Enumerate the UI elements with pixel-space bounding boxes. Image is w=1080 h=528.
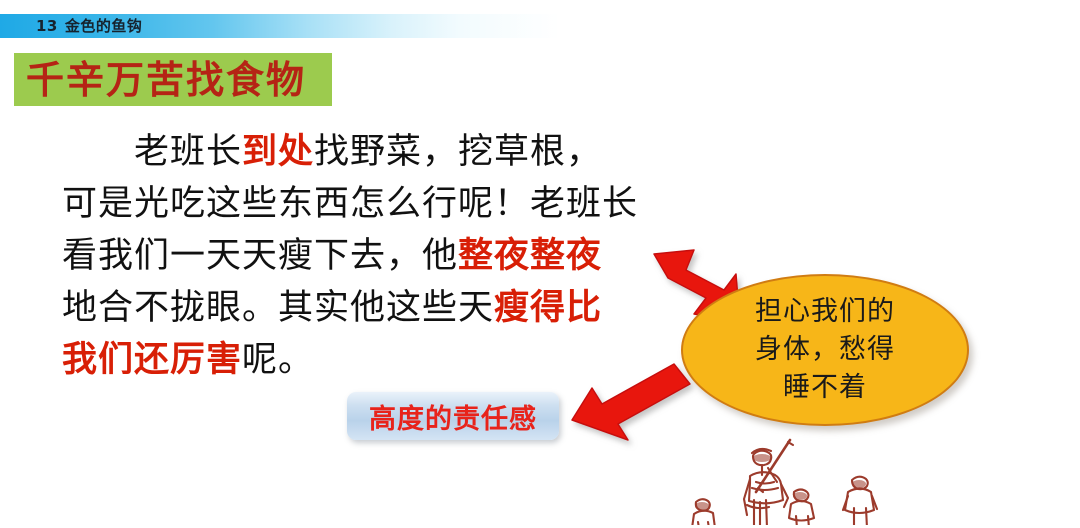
responsibility-box: 高度的责任感 bbox=[347, 392, 559, 440]
soldier-sketch-icon bbox=[690, 438, 960, 528]
paragraph-line-1-seg-3: 找野菜，挖草根， bbox=[314, 132, 602, 172]
paragraph-line-2-seg-1: 可是光吃这些东西怎么行呢！老班长 bbox=[62, 184, 638, 224]
lesson-header: 13金色的鱼钩 bbox=[36, 15, 142, 37]
ellipse-line-2: 身体，愁得 bbox=[755, 331, 895, 369]
paragraph-line-1-seg-2: 到处 bbox=[242, 131, 314, 172]
ellipse-line-3: 睡不着 bbox=[783, 369, 867, 407]
paragraph-line-2: 可是光吃这些东西怎么行呢！老班长 bbox=[62, 178, 702, 230]
lesson-paragraph: 老班长到处找野菜，挖草根，可是光吃这些东西怎么行呢！老班长看我们一天天瘦下去，他… bbox=[62, 126, 702, 386]
paragraph-line-5-seg-1: 我们还厉害 bbox=[62, 339, 242, 380]
arrow-to-bluebox-icon bbox=[566, 362, 698, 448]
title-banner-text: 千辛万苦找食物 bbox=[26, 58, 306, 102]
paragraph-line-1-seg-1: 老班长 bbox=[134, 132, 242, 172]
paragraph-line-1: 老班长到处找野菜，挖草根， bbox=[62, 126, 702, 178]
paragraph-line-3-seg-1: 看我们一天天瘦下去，他 bbox=[62, 236, 458, 276]
soldier-sketch-figures bbox=[690, 438, 960, 528]
ellipse-callout: 担心我们的 身体，愁得 睡不着 bbox=[681, 274, 969, 426]
paragraph-line-3: 看我们一天天瘦下去，他整夜整夜 bbox=[62, 230, 702, 282]
slide-canvas: 13金色的鱼钩 千辛万苦找食物 老班长到处找野菜，挖草根，可是光吃这些东西怎么行… bbox=[0, 0, 1080, 528]
paragraph-line-4-seg-1: 地合不拢眼。其实他这些天 bbox=[62, 288, 494, 328]
paragraph-line-3-seg-2: 整夜整夜 bbox=[458, 235, 602, 276]
title-banner: 千辛万苦找食物 bbox=[14, 53, 332, 106]
ellipse-line-1: 担心我们的 bbox=[755, 293, 895, 331]
lesson-number: 13 bbox=[36, 17, 58, 35]
lesson-title: 金色的鱼钩 bbox=[65, 17, 143, 35]
paragraph-line-4-seg-2: 瘦得比 bbox=[494, 287, 602, 328]
responsibility-box-text: 高度的责任感 bbox=[369, 397, 537, 436]
paragraph-line-4: 地合不拢眼。其实他这些天瘦得比 bbox=[62, 282, 702, 334]
paragraph-line-5-seg-2: 呢。 bbox=[242, 340, 314, 380]
